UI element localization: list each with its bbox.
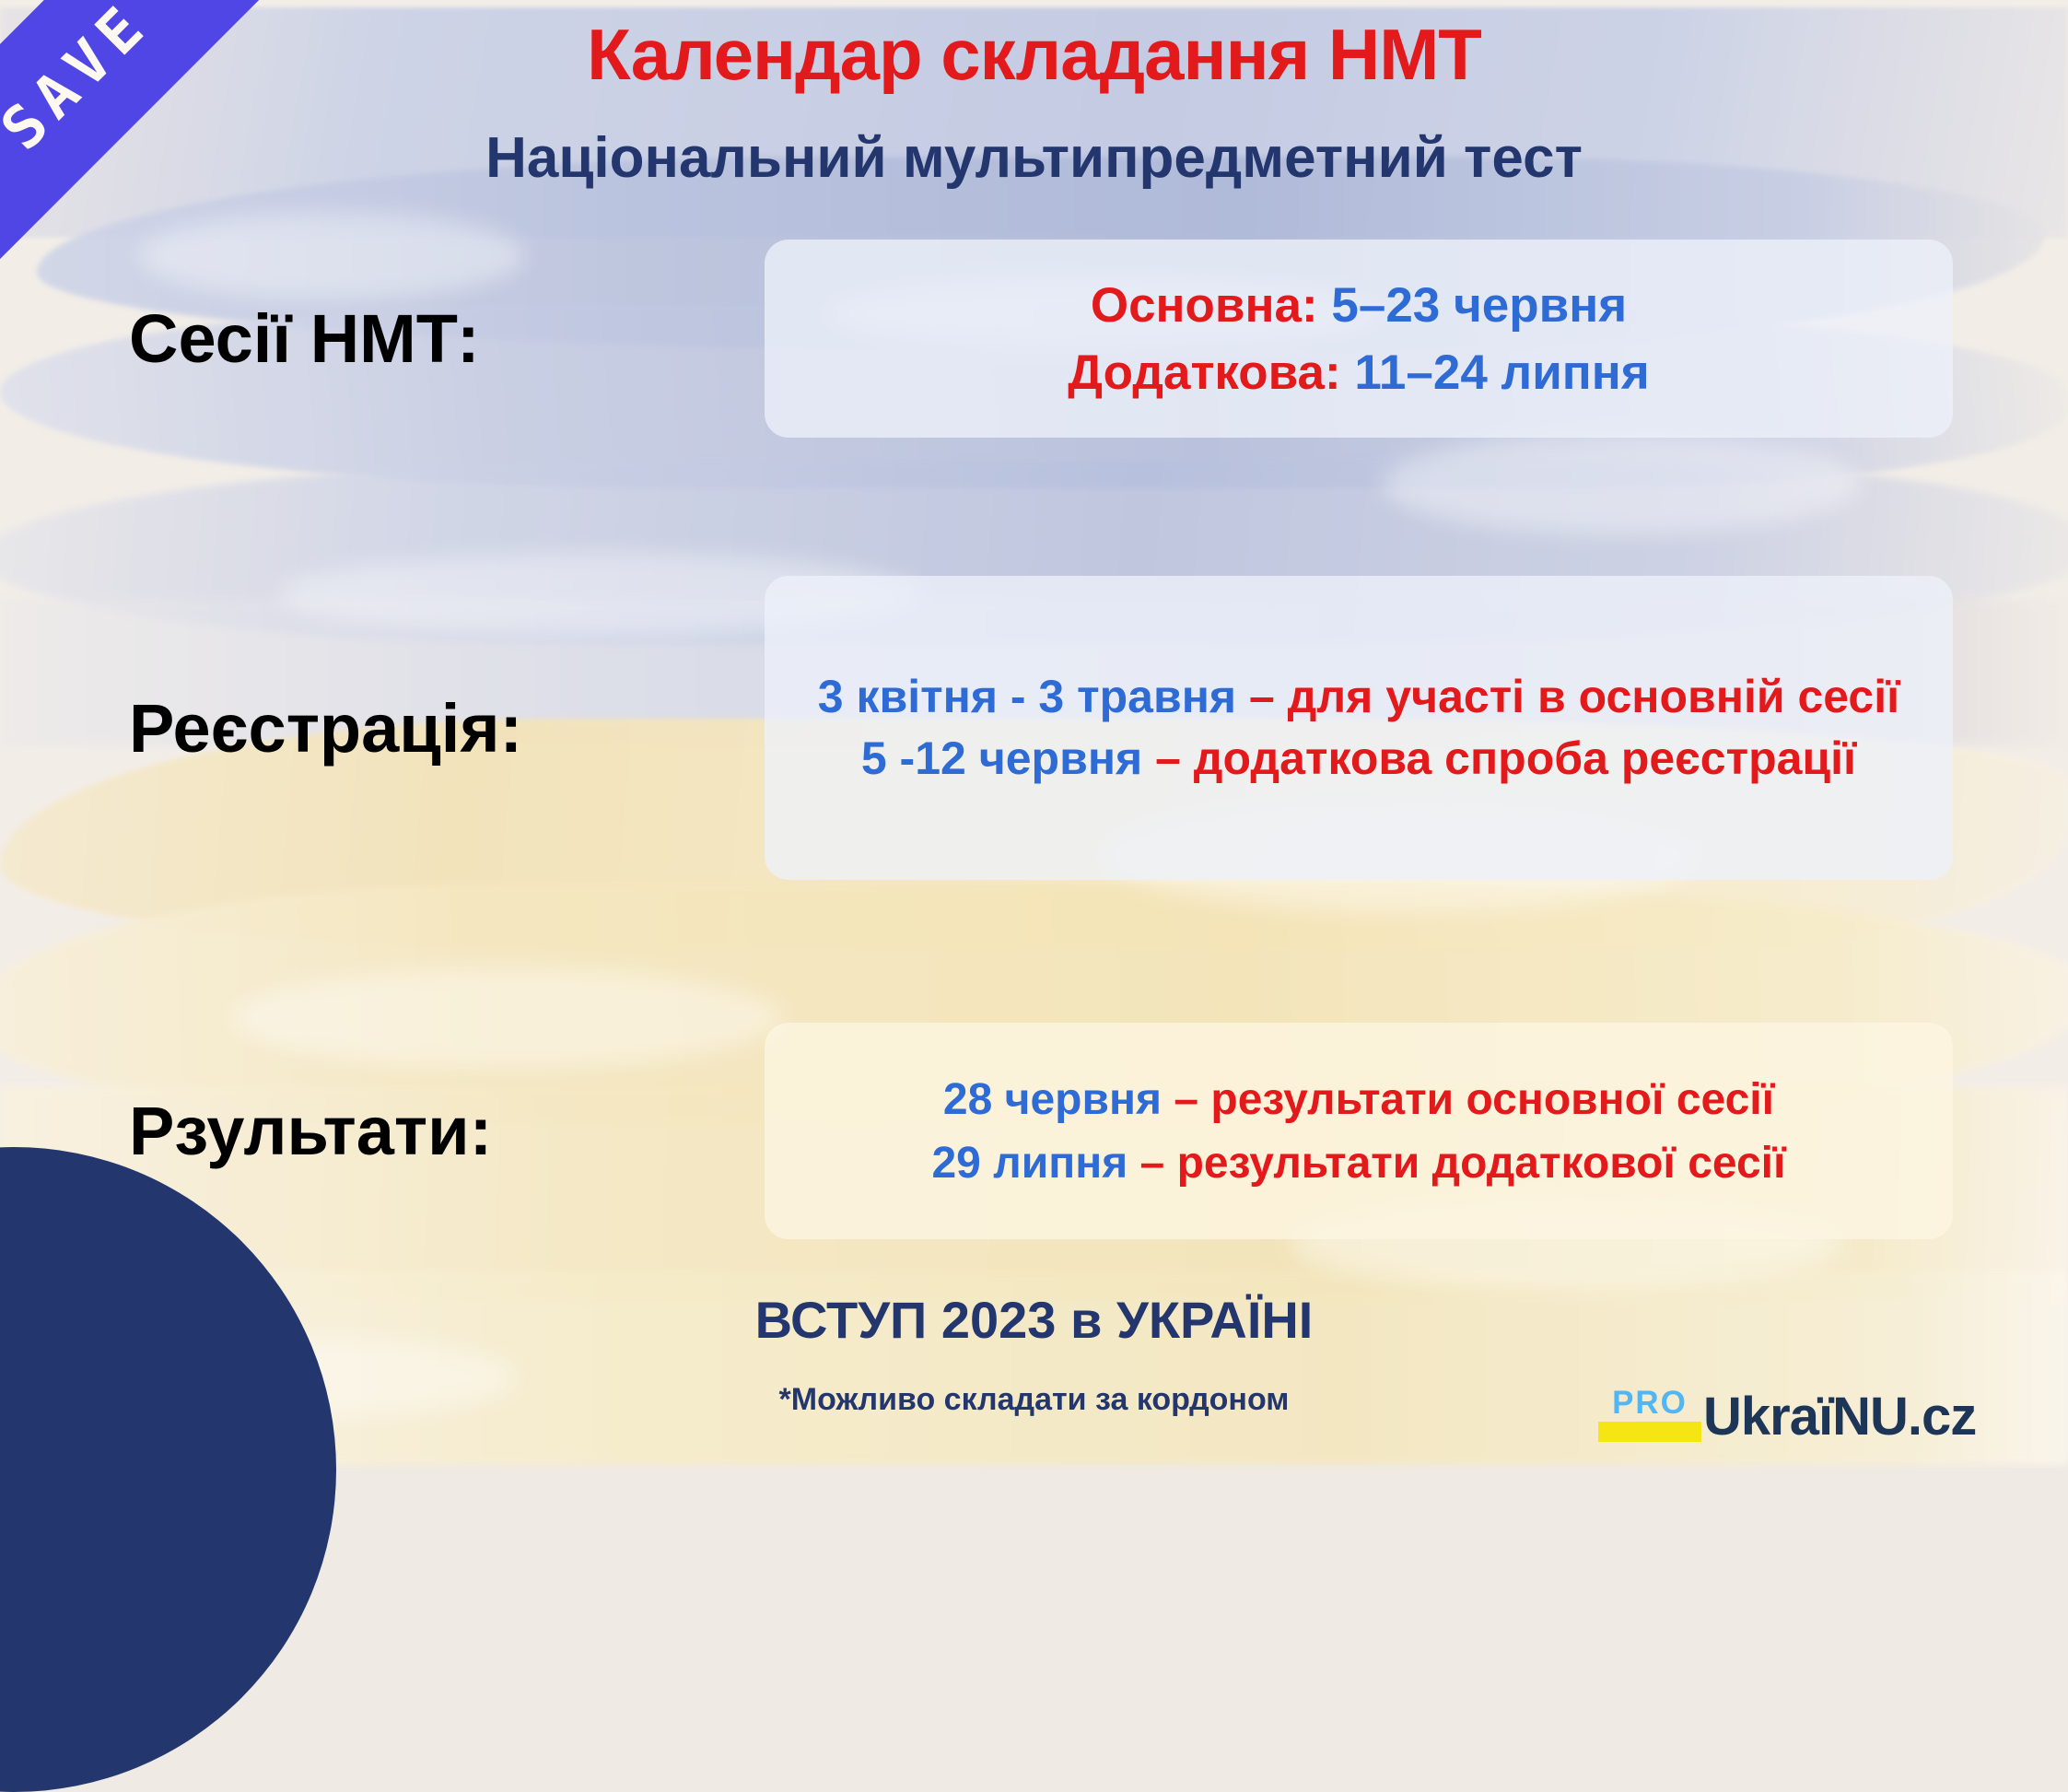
section-row-results: Рзультати: 28 червня – результати основн… xyxy=(129,1018,1962,1244)
line-value: 11–24 липня xyxy=(1341,346,1650,400)
section-label-registration: Реєстрація: xyxy=(129,689,765,767)
line-emphasis: Додаткова: xyxy=(1068,346,1340,400)
section-row-registration: Реєстрація: 3 квітня - 3 травня – для уч… xyxy=(129,571,1962,884)
card-line: Основна: 5–23 червня xyxy=(801,277,1916,334)
card-line: 5 -12 червня – додаткова спроба реєстрац… xyxy=(801,731,1916,787)
section-label-results: Рзультати: xyxy=(129,1092,765,1170)
page-subtitle: Національний мультипредметний тест xyxy=(0,125,2068,191)
card-line: 3 квітня - 3 травня – для участі в основ… xyxy=(801,669,1916,725)
card-line: 28 червня – результати основної сесії xyxy=(789,1074,1929,1125)
logo-yellow-bar xyxy=(1598,1422,1701,1442)
card-line: 29 липня – результати додаткової сесії xyxy=(789,1138,1929,1189)
logo-pro-block: PRO xyxy=(1598,1387,1701,1442)
line-emphasis: Основна: xyxy=(1091,278,1318,333)
line-value: 29 липня xyxy=(931,1139,1127,1188)
line-emphasis: – додаткова спроба реєстрації xyxy=(1142,732,1856,784)
section-row-sessions: Сесії НМТ: Основна: 5–23 червня Додатков… xyxy=(129,235,1962,442)
line-value: 28 червня xyxy=(943,1075,1162,1124)
line-value: 3 квітня - 3 травня xyxy=(818,671,1236,722)
ribbon-label: SAVE xyxy=(0,0,292,293)
logo-pro-text: PRO xyxy=(1598,1387,1701,1419)
line-emphasis: – результати основної сесії xyxy=(1162,1075,1774,1124)
card-sessions: Основна: 5–23 червня Додаткова: 11–24 ли… xyxy=(765,240,1953,438)
page-title: Календар складання НМТ xyxy=(0,13,2068,97)
line-value: 5–23 червня xyxy=(1318,278,1628,333)
save-corner-ribbon[interactable]: SAVE xyxy=(0,0,306,306)
line-emphasis: – для участі в основній сесії xyxy=(1236,671,1899,722)
card-line: Додаткова: 11–24 липня xyxy=(801,345,1916,401)
card-registration: 3 квітня - 3 травня – для участі в основ… xyxy=(765,576,1953,880)
prouakrainu-logo[interactable]: PRO UkraïNU.cz xyxy=(1598,1387,1976,1442)
line-value: 5 -12 червня xyxy=(861,732,1142,784)
line-emphasis: – результати додаткової сесії xyxy=(1127,1139,1785,1188)
footer-headline: ВСТУП 2023 в УКРАЇНІ xyxy=(0,1290,2068,1350)
section-label-sessions: Сесії НМТ: xyxy=(129,299,765,378)
logo-name-text: UkraïNU.cz xyxy=(1703,1391,1976,1442)
poster-content: Календар складання НМТ Національний муль… xyxy=(0,0,2068,1462)
card-results: 28 червня – результати основної сесії 29… xyxy=(765,1023,1953,1239)
